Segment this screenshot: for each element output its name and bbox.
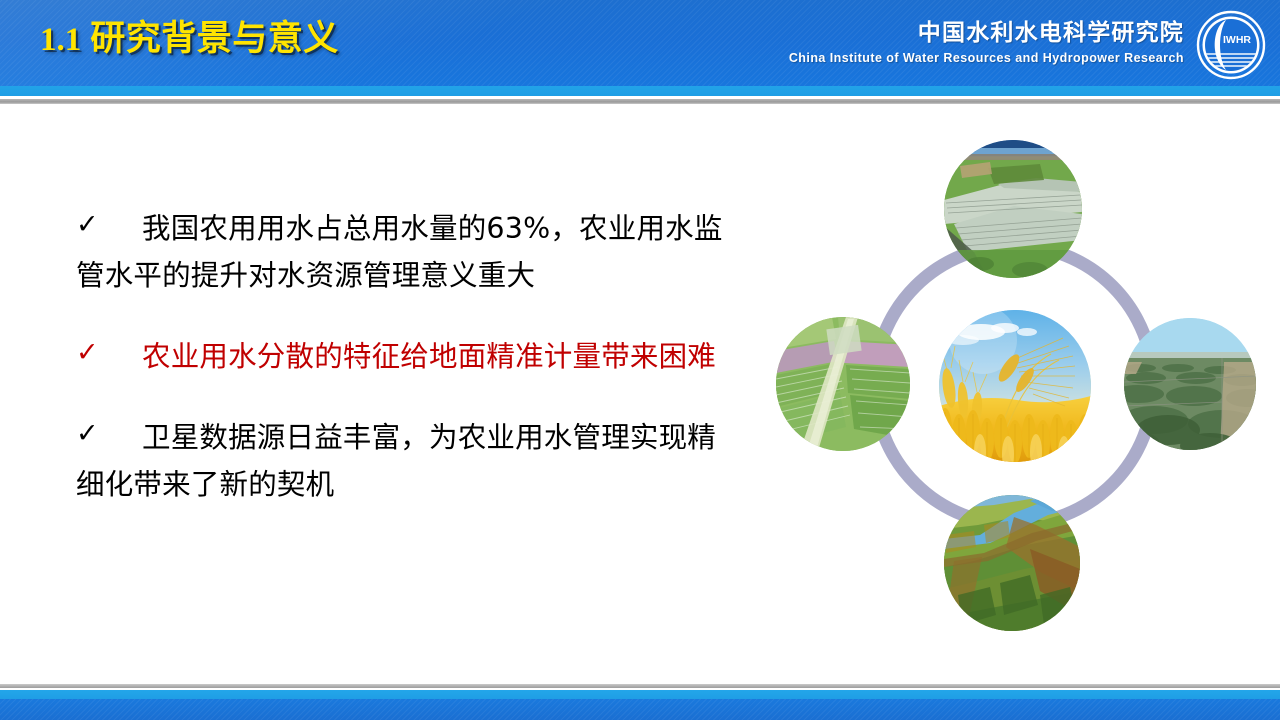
footer-blue-band — [0, 699, 1280, 720]
organization-name-en: China Institute of Water Resources and H… — [789, 49, 1184, 67]
slide-header: 1.1研究背景与意义 中国水利水电科学研究院 China Institute o… — [0, 0, 1280, 86]
checkmark-icon: ✓ — [76, 416, 99, 452]
header-cyan-band — [0, 86, 1280, 96]
bullet-list: ✓ 我国农用用水占总用水量的63%，农业用水监管水平的提升对水资源管理意义重大 … — [76, 205, 736, 536]
header-gray-divider — [0, 99, 1280, 104]
organization-name-cn: 中国水利水电科学研究院 — [789, 18, 1184, 46]
photo-detail — [776, 317, 910, 451]
list-item: ✓ 卫星数据源日益丰富，为农业用水管理实现精细化带来了新的契机 — [76, 414, 736, 508]
photo-detail — [1124, 318, 1256, 450]
footer-cyan-band — [0, 690, 1280, 699]
photo-detail — [939, 310, 1091, 462]
list-item: ✓ 我国农用用水占总用水量的63%，农业用水监管水平的提升对水资源管理意义重大 — [76, 205, 736, 299]
golden-wheat-field-photo — [939, 310, 1091, 462]
slide-canvas: 1.1研究背景与意义 中国水利水电科学研究院 China Institute o… — [0, 0, 1280, 720]
page-title-number: 1.1 — [40, 22, 81, 58]
center-pivot-irrigation-aerial-photo — [1124, 318, 1256, 450]
bullet-text: 卫星数据源日益丰富，为农业用水管理实现精细化带来了新的契机 — [76, 414, 736, 508]
iwhr-logo-icon: IWHR — [1196, 10, 1266, 80]
river-farmland-aerial-photo — [944, 495, 1080, 631]
striped-crop-plots-aerial-photo — [776, 317, 910, 451]
photo-detail — [944, 495, 1080, 631]
page-title: 1.1研究背景与意义 — [40, 17, 339, 62]
checkmark-icon: ✓ — [76, 207, 99, 243]
list-item: ✓ 农业用水分散的特征给地面精准计量带来困难 — [76, 333, 736, 380]
bullet-text: 农业用水分散的特征给地面精准计量带来困难 — [76, 333, 736, 380]
iwhr-logo-text: IWHR — [1223, 34, 1251, 46]
checkmark-icon: ✓ — [76, 335, 99, 371]
page-title-text: 研究背景与意义 — [90, 19, 339, 58]
photo-detail — [944, 140, 1082, 278]
greenhouse-farmland-aerial-photo — [944, 140, 1082, 278]
bullet-text: 我国农用用水占总用水量的63%，农业用水监管水平的提升对水资源管理意义重大 — [76, 205, 736, 299]
circular-photo-diagram — [844, 215, 1184, 555]
organization-block: 中国水利水电科学研究院 China Institute of Water Res… — [789, 18, 1184, 67]
